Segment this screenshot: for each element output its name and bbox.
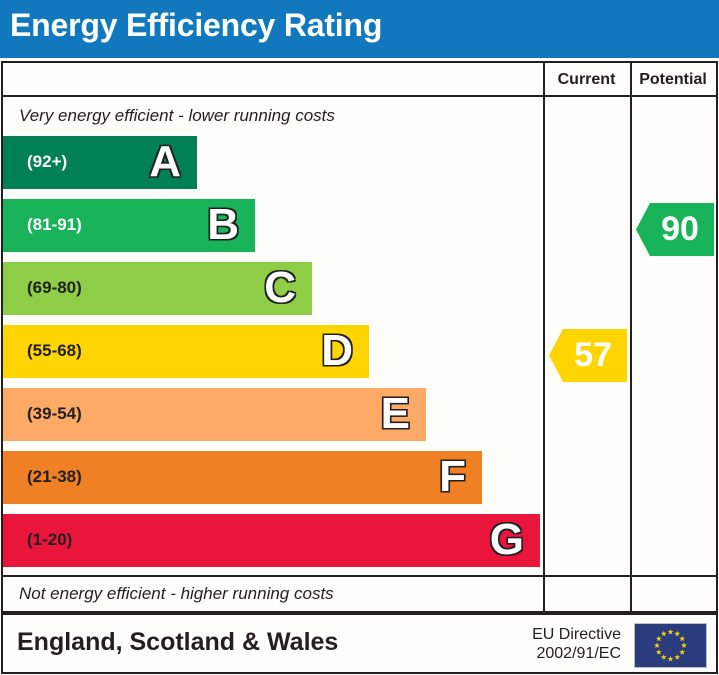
footer-bar: England, Scotland & Wales EU Directive 2… <box>1 613 718 674</box>
column-header-row: Current Potential <box>3 63 716 97</box>
title-bar: Energy Efficiency Rating <box>0 0 719 58</box>
band-letter-f: F <box>439 450 466 503</box>
caption-very-efficient: Very energy efficient - lower running co… <box>19 106 335 126</box>
footer-region-label: England, Scotland & Wales <box>17 628 338 657</box>
band-letter-e: E <box>381 387 410 440</box>
band-letter-a: A <box>149 135 181 188</box>
band-letter-g: G <box>490 513 524 566</box>
band-letter-d: D <box>321 324 353 377</box>
rating-band-e: (39-54)E <box>3 388 426 441</box>
column-divider-current <box>543 63 545 611</box>
rating-band-c: (69-80)C <box>3 262 312 315</box>
footer-directive-line2: 2002/91/EC <box>532 644 621 663</box>
band-range-label: (39-54) <box>27 404 82 424</box>
column-header-potential: Potential <box>630 71 716 89</box>
footer-directive: EU Directive 2002/91/EC <box>532 625 621 663</box>
band-letter-c: C <box>264 261 296 314</box>
rating-band-f: (21-38)F <box>3 451 482 504</box>
band-range-label: (92+) <box>27 152 67 172</box>
rating-band-b: (81-91)B <box>3 199 255 252</box>
caption-not-efficient: Not energy efficient - higher running co… <box>19 584 334 604</box>
band-letter-b: B <box>207 198 239 251</box>
band-range-label: (55-68) <box>27 341 82 361</box>
rating-badge-current: 57 <box>549 329 627 382</box>
rating-band-a: (92+)A <box>3 136 197 189</box>
caption-bottom-row: Not energy efficient - higher running co… <box>3 577 540 611</box>
band-range-label: (1-20) <box>27 530 72 550</box>
rating-bands: (92+)A(81-91)B(69-80)C(55-68)D(39-54)E(2… <box>3 136 540 576</box>
page-title: Energy Efficiency Rating <box>10 7 382 44</box>
band-range-label: (69-80) <box>27 278 82 298</box>
column-header-current: Current <box>543 71 630 89</box>
rating-badge-potential: 90 <box>636 203 714 256</box>
caption-top-row: Very energy efficient - lower running co… <box>3 99 540 133</box>
eu-flag-icon <box>634 623 707 668</box>
rating-band-g: (1-20)G <box>3 514 540 567</box>
band-range-label: (81-91) <box>27 215 82 235</box>
footer-directive-line1: EU Directive <box>532 625 621 644</box>
band-range-label: (21-38) <box>27 467 82 487</box>
energy-efficiency-rating-chart: Energy Efficiency Rating Current Potenti… <box>0 0 719 675</box>
chart-frame: Current Potential Very energy efficient … <box>1 61 718 613</box>
column-divider-potential <box>630 63 632 611</box>
rating-band-d: (55-68)D <box>3 325 369 378</box>
